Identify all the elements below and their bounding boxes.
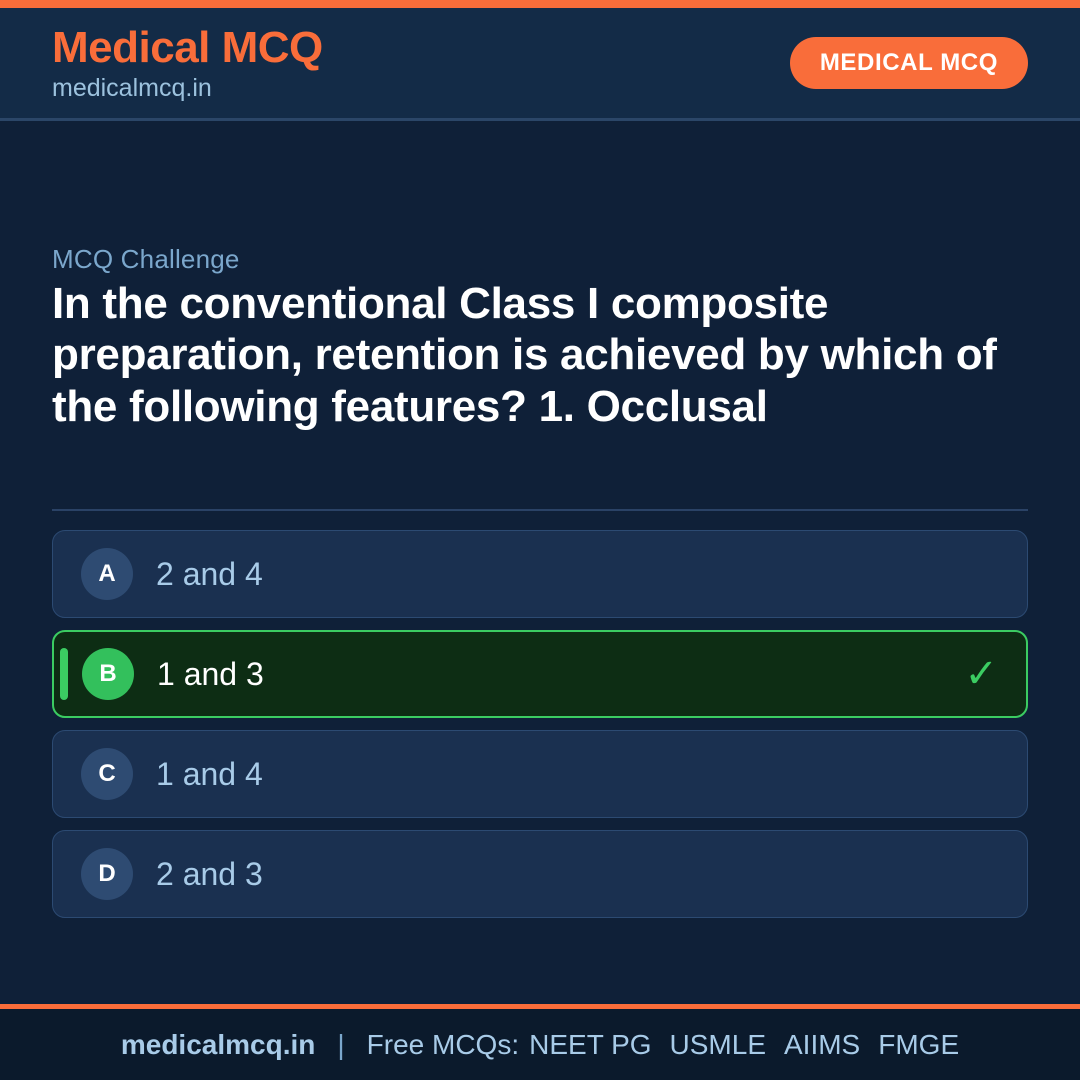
footer-separator: | xyxy=(337,1029,344,1061)
option-a[interactable]: A 2 and 4 ✓ xyxy=(52,530,1028,618)
option-a-text: 2 and 4 xyxy=(156,556,263,593)
option-b-letter: B xyxy=(82,648,134,700)
check-icon: ✓ xyxy=(964,654,998,694)
header: Medical MCQ medicalmcq.in MEDICAL MCQ xyxy=(0,8,1080,121)
footer-exam-usmle: USMLE xyxy=(670,1029,766,1061)
main-content: MCQ Challenge In the conventional Class … xyxy=(0,121,1080,1004)
option-c-text: 1 and 4 xyxy=(156,756,263,793)
correct-accent-bar xyxy=(60,648,68,700)
top-accent-bar xyxy=(0,0,1080,8)
question-divider xyxy=(52,509,1028,511)
brand: Medical MCQ medicalmcq.in xyxy=(52,26,323,101)
footer-text: medicalmcq.in | Free MCQs: NEET PG USMLE… xyxy=(121,1029,959,1061)
footer-site: medicalmcq.in xyxy=(121,1029,316,1061)
option-d-letter: D xyxy=(81,848,133,900)
eyebrow-label: MCQ Challenge xyxy=(52,244,240,275)
footer-exam-fmge: FMGE xyxy=(878,1029,959,1061)
option-c[interactable]: C 1 and 4 ✓ xyxy=(52,730,1028,818)
footer: medicalmcq.in | Free MCQs: NEET PG USMLE… xyxy=(0,1004,1080,1080)
option-b-text: 1 and 3 xyxy=(157,656,264,693)
footer-label: Free MCQs: xyxy=(367,1029,519,1061)
options-list: A 2 and 4 ✓ B 1 and 3 ✓ C 1 and 4 ✓ D 2 … xyxy=(52,530,1028,918)
header-badge: MEDICAL MCQ xyxy=(790,37,1028,89)
option-a-letter: A xyxy=(81,548,133,600)
brand-subtitle: medicalmcq.in xyxy=(52,76,323,101)
option-d-text: 2 and 3 xyxy=(156,856,263,893)
option-c-letter: C xyxy=(81,748,133,800)
footer-exam-aiims: AIIMS xyxy=(784,1029,860,1061)
footer-exam-neet-pg: NEET PG xyxy=(529,1029,651,1061)
mcq-card: Medical MCQ medicalmcq.in MEDICAL MCQ MC… xyxy=(0,0,1080,1080)
question-text: In the conventional Class I composite pr… xyxy=(52,278,1032,432)
option-b[interactable]: B 1 and 3 ✓ xyxy=(52,630,1028,718)
brand-title: Medical MCQ xyxy=(52,26,323,70)
option-d[interactable]: D 2 and 3 ✓ xyxy=(52,830,1028,918)
